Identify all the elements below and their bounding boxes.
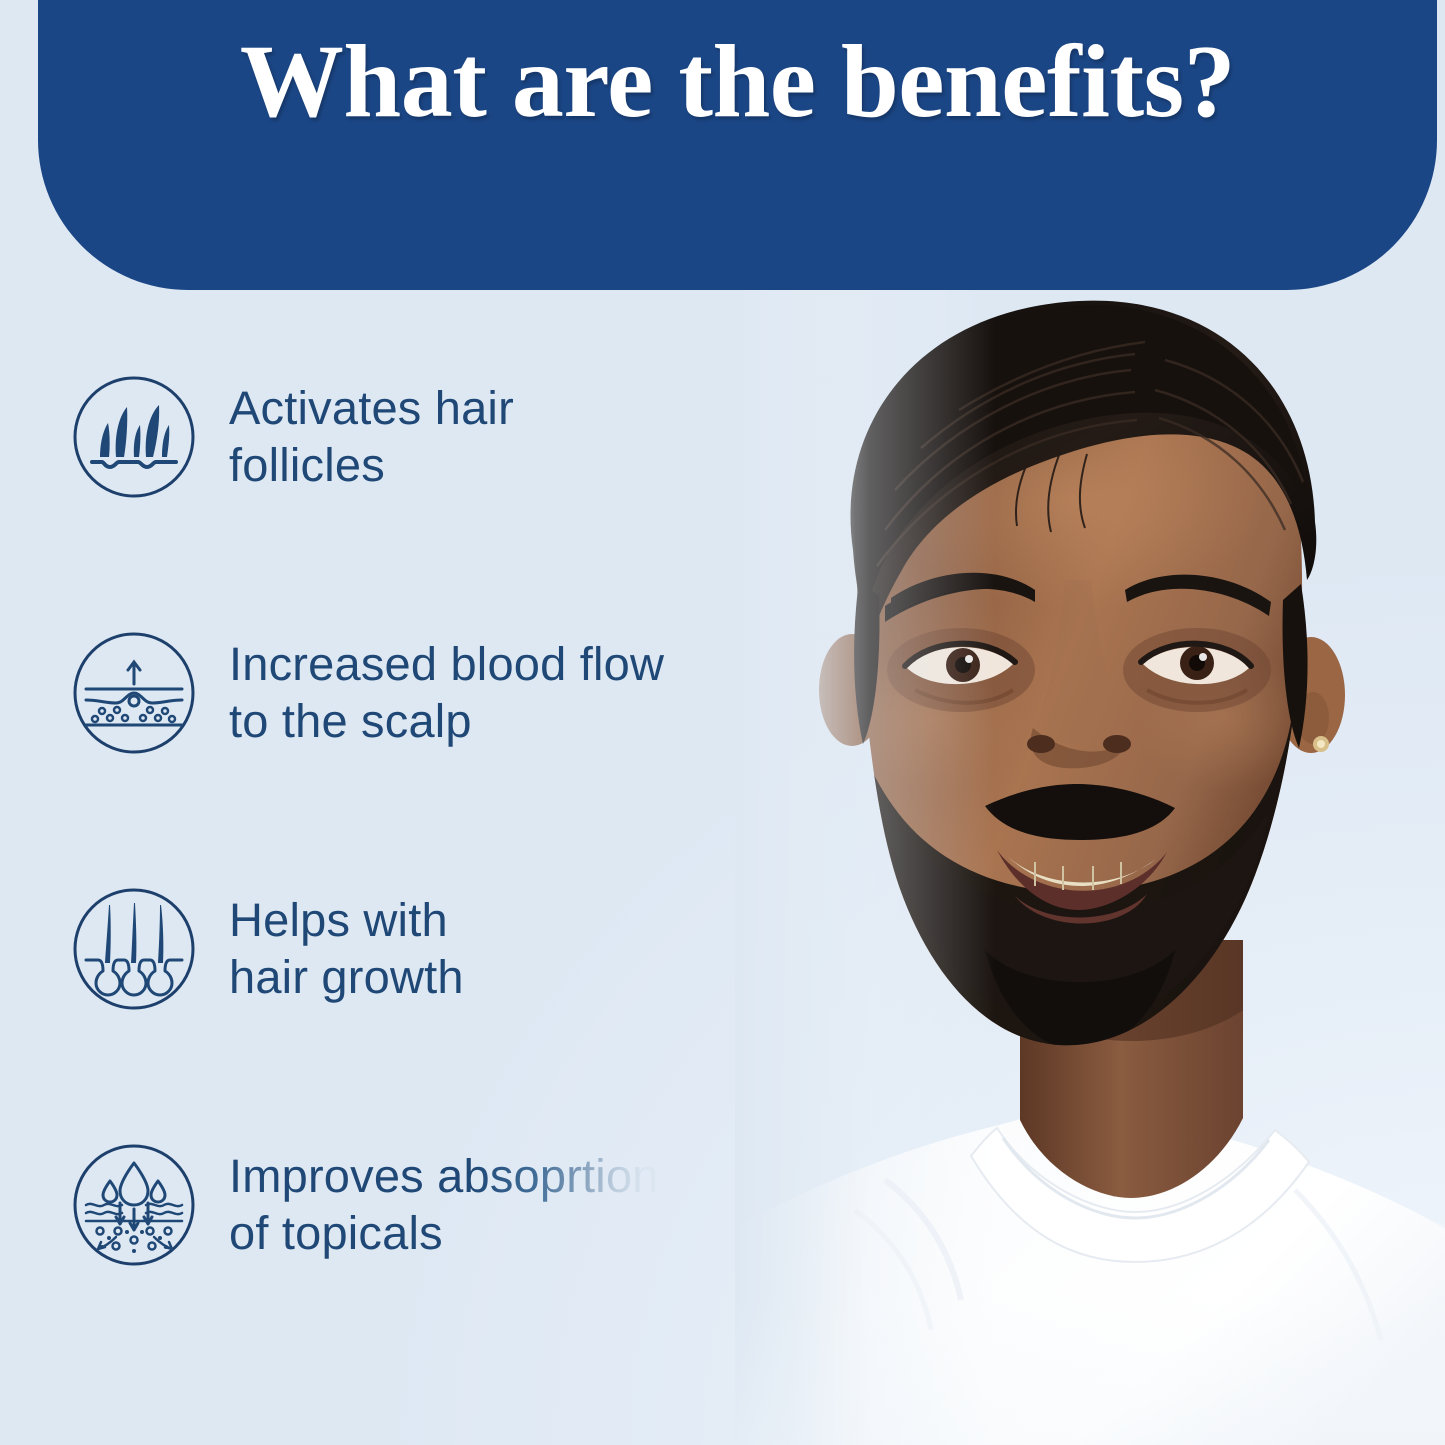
benefit-item: Improves absoprtion of topicals bbox=[0, 1140, 800, 1270]
benefit-label: Activates hair follicles bbox=[229, 380, 514, 494]
hair-growth-icon bbox=[72, 887, 196, 1011]
promo-graphic: What are the benefits? Activates bbox=[0, 0, 1445, 1445]
benefits-list: Activates hair follicles bbox=[0, 372, 800, 1270]
benefit-label: Improves absoprtion of topicals bbox=[229, 1148, 659, 1262]
hair-follicles-icon bbox=[72, 375, 196, 499]
topical-absorption-icon bbox=[72, 1143, 196, 1267]
benefit-item: Increased blood flow to the scalp bbox=[0, 628, 800, 758]
header-banner: What are the benefits? bbox=[38, 0, 1437, 290]
benefit-item: Activates hair follicles bbox=[0, 372, 800, 502]
benefit-label: Helps with hair growth bbox=[229, 892, 464, 1006]
benefit-label: Increased blood flow to the scalp bbox=[229, 636, 664, 750]
smiling-man-portrait bbox=[735, 250, 1445, 1445]
page-title: What are the benefits? bbox=[38, 22, 1437, 141]
benefit-item: Helps with hair growth bbox=[0, 884, 800, 1014]
scalp-blood-flow-icon bbox=[72, 631, 196, 755]
